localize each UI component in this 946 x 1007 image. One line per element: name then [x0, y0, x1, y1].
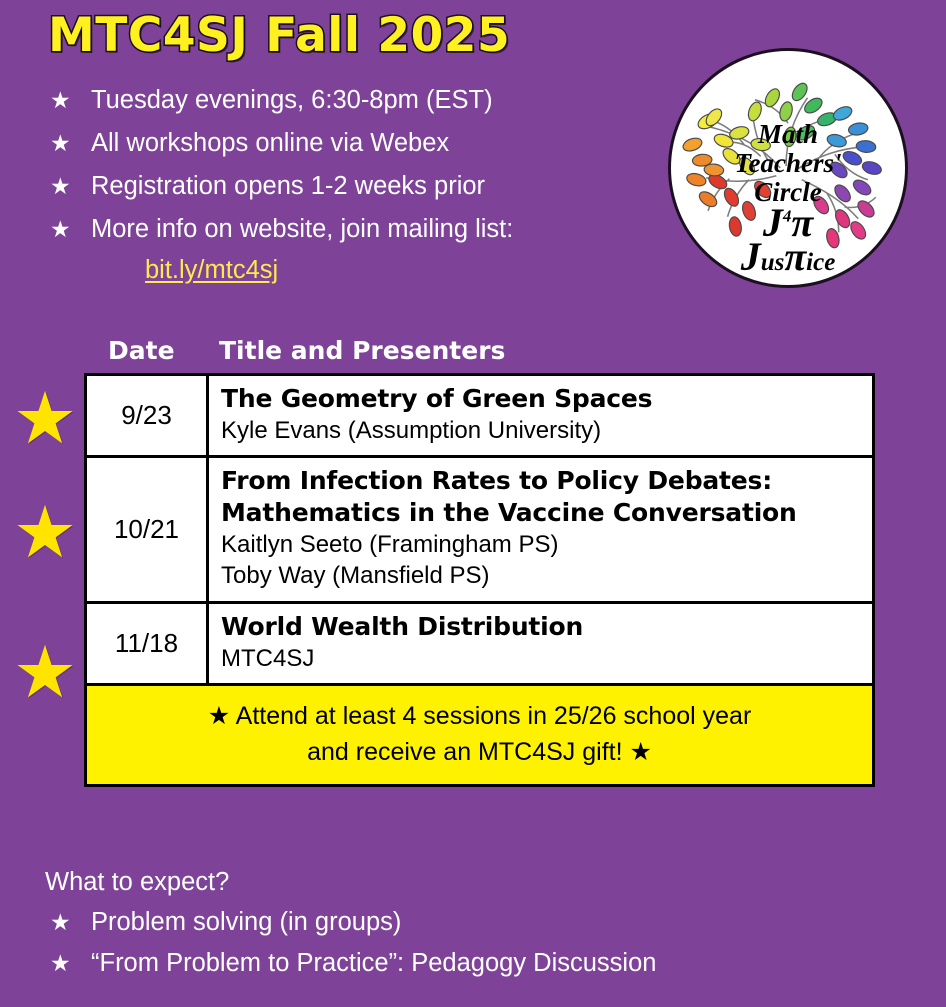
logo-circle: Math Teachers' Circle J4π Jusπice	[668, 48, 908, 288]
star-bullet-icon: ★	[45, 209, 91, 250]
table-row[interactable]: 9/23 The Geometry of Green Spaces Kyle E…	[87, 376, 872, 458]
list-item-label: Problem solving (in groups)	[91, 902, 401, 943]
what-to-expect-section: What to expect? ★ Problem solving (in gr…	[45, 862, 925, 984]
star-bullet-icon: ★	[45, 943, 91, 984]
schedule-table: 9/23 The Geometry of Green Spaces Kyle E…	[84, 373, 875, 787]
table-header-row: Date Title and Presenters	[0, 336, 946, 368]
list-item: ★ Tuesday evenings, 6:30-8pm (EST)	[45, 80, 665, 121]
session-presenter: MTC4SJ	[221, 643, 872, 674]
session-title-line: World Wealth Distribution	[221, 611, 872, 643]
session-date: 11/18	[87, 604, 209, 683]
star-bullet-icon: ★	[45, 80, 91, 121]
incentive-banner-line-2: and receive an MTC4SJ gift! ★	[97, 734, 862, 770]
table-row[interactable]: 10/21 From Infection Rates to Policy Deb…	[87, 458, 872, 603]
star-bullet-icon: ★	[45, 166, 91, 207]
column-header-title: Title and Presenters	[219, 336, 505, 365]
session-details: World Wealth Distribution MTC4SJ	[209, 604, 872, 683]
list-item-label: All workshops online via Webex	[91, 123, 449, 164]
list-item-label: Tuesday evenings, 6:30-8pm (EST)	[91, 80, 493, 121]
mailing-list-link[interactable]: bit.ly/mtc4sj	[145, 256, 278, 284]
session-title-line: From Infection Rates to Policy Debates:	[221, 465, 872, 497]
list-item-label: “From Problem to Practice”: Pedagogy Dis…	[91, 943, 656, 984]
session-date: 9/23	[87, 376, 209, 455]
logo-branches-icon	[671, 51, 905, 285]
list-item: ★ “From Problem to Practice”: Pedagogy D…	[45, 943, 925, 984]
list-item: ★ All workshops online via Webex	[45, 123, 665, 164]
incentive-banner-line-1: ★ Attend at least 4 sessions in 25/26 sc…	[97, 698, 862, 734]
margin-star-icon-3: ★	[12, 640, 78, 706]
mtc4sj-logo: Math Teachers' Circle J4π Jusπice	[668, 48, 908, 288]
session-details: From Infection Rates to Policy Debates: …	[209, 458, 872, 600]
list-item: ★ More info on website, join mailing lis…	[45, 209, 665, 250]
session-presenter: Kaitlyn Seeto (Framingham PS)	[221, 529, 872, 560]
session-presenter: Kyle Evans (Assumption University)	[221, 415, 872, 446]
incentive-banner: ★ Attend at least 4 sessions in 25/26 sc…	[87, 686, 872, 785]
session-presenter: Toby Way (Mansfield PS)	[221, 560, 872, 591]
what-to-expect-heading: What to expect?	[45, 862, 925, 902]
mailing-list-link-row: bit.ly/mtc4sj	[145, 252, 665, 288]
list-item-label: Registration opens 1-2 weeks prior	[91, 166, 485, 207]
column-header-date: Date	[108, 336, 175, 365]
star-bullet-icon: ★	[45, 123, 91, 164]
page-title: MTC4SJ Fall 2025	[48, 8, 510, 63]
session-title-line: Mathematics in the Vaccine Conversation	[221, 497, 872, 529]
list-item-label: More info on website, join mailing list:	[91, 209, 513, 250]
session-title-line: The Geometry of Green Spaces	[221, 383, 872, 415]
margin-star-icon-2: ★	[12, 500, 78, 566]
star-bullet-icon: ★	[45, 902, 91, 943]
info-list: ★ Tuesday evenings, 6:30-8pm (EST) ★ All…	[45, 80, 665, 288]
session-date: 10/21	[87, 458, 209, 600]
session-details: The Geometry of Green Spaces Kyle Evans …	[209, 376, 872, 455]
table-row[interactable]: 11/18 World Wealth Distribution MTC4SJ	[87, 604, 872, 686]
list-item: ★ Registration opens 1-2 weeks prior	[45, 166, 665, 207]
margin-star-icon-1: ★	[12, 386, 78, 452]
list-item: ★ Problem solving (in groups)	[45, 902, 925, 943]
